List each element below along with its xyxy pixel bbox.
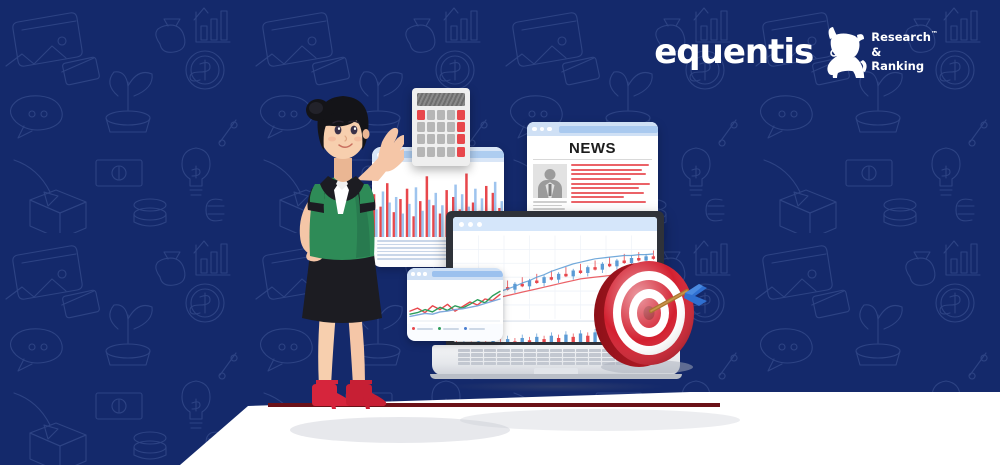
laptop-key[interactable] xyxy=(484,353,496,356)
volume-bar xyxy=(579,333,582,342)
person-avatar-icon xyxy=(533,164,567,198)
bar xyxy=(419,201,422,237)
line-chart-plot xyxy=(407,280,503,324)
calculator-key[interactable] xyxy=(417,110,425,120)
laptop-key[interactable] xyxy=(524,362,536,365)
brand-logo[interactable]: equentis xyxy=(654,26,938,78)
calculator-key[interactable] xyxy=(447,110,455,120)
laptop-key[interactable] xyxy=(537,349,549,352)
bar xyxy=(412,216,415,237)
volume-bar xyxy=(506,339,509,342)
laptop-shadow xyxy=(446,381,666,392)
calculator-key[interactable] xyxy=(447,147,455,157)
laptop-key[interactable] xyxy=(497,353,509,356)
laptop-key[interactable] xyxy=(550,358,562,361)
calculator-display xyxy=(417,93,465,106)
candle-body xyxy=(550,277,553,280)
laptop-key[interactable] xyxy=(458,358,470,361)
calculator-key[interactable] xyxy=(437,110,445,120)
candle-body xyxy=(572,271,575,277)
laptop-key[interactable] xyxy=(550,362,562,365)
laptop-key[interactable] xyxy=(458,353,470,356)
bar xyxy=(406,189,409,237)
calculator-key[interactable] xyxy=(427,110,435,120)
laptop-key[interactable] xyxy=(576,353,588,356)
businesswoman-character xyxy=(282,84,404,418)
promotional-banner: NEWS xyxy=(0,0,1000,465)
laptop-key[interactable] xyxy=(563,358,575,361)
laptop-key[interactable] xyxy=(458,349,470,352)
laptop-key[interactable] xyxy=(471,362,483,365)
volume-bar xyxy=(542,339,545,342)
legend-swatch xyxy=(464,327,467,330)
news-text-column xyxy=(571,164,652,215)
line-window-titlebar xyxy=(407,268,503,280)
bar xyxy=(408,204,411,237)
logo-wordmark: equentis xyxy=(654,35,813,69)
volume-bar xyxy=(528,340,531,342)
window-dot-icon xyxy=(532,127,537,132)
calculator-key[interactable] xyxy=(457,134,465,144)
legend-swatch xyxy=(412,327,415,330)
calculator-key[interactable] xyxy=(457,147,465,157)
legend-label xyxy=(417,328,433,330)
calculator-key[interactable] xyxy=(437,134,445,144)
bar xyxy=(428,200,431,237)
legend-item xyxy=(438,327,459,330)
calculator-key[interactable] xyxy=(427,147,435,157)
bar xyxy=(415,187,418,237)
candle-body xyxy=(586,267,589,273)
laptop-key[interactable] xyxy=(511,349,523,352)
laptop-key[interactable] xyxy=(524,349,536,352)
volume-bar xyxy=(550,336,553,342)
titlebar-fill xyxy=(432,271,503,277)
laptop-key[interactable] xyxy=(497,349,509,352)
line-chart-window[interactable] xyxy=(407,268,503,341)
volume-bar xyxy=(564,335,567,342)
news-window-titlebar xyxy=(527,122,658,136)
candle-body xyxy=(564,274,567,277)
news-avatar-column xyxy=(533,164,567,215)
volume-bar xyxy=(477,341,480,342)
laptop-front-lip xyxy=(430,374,682,379)
laptop-key[interactable] xyxy=(497,358,509,361)
laptop-key[interactable] xyxy=(484,349,496,352)
line-chart-legend xyxy=(407,324,503,333)
volume-bar xyxy=(557,338,560,342)
laptop-key[interactable] xyxy=(563,353,575,356)
titlebar-fill xyxy=(559,126,659,133)
calculator-key[interactable] xyxy=(457,110,465,120)
legend-swatch xyxy=(438,327,441,330)
calculator-key[interactable] xyxy=(417,122,425,132)
legend-item xyxy=(412,327,433,330)
calculator-key[interactable] xyxy=(417,134,425,144)
candle-body xyxy=(521,284,524,287)
laptop-key[interactable] xyxy=(471,349,483,352)
dartboard-target xyxy=(591,257,711,373)
bar xyxy=(426,176,429,237)
bull-icon xyxy=(817,26,867,78)
tagline-line-3: Ranking xyxy=(871,59,924,73)
laptop-key[interactable] xyxy=(576,358,588,361)
calculator-key[interactable] xyxy=(427,134,435,144)
window-dot-icon xyxy=(423,272,427,276)
laptop-key[interactable] xyxy=(524,353,536,356)
legend-item xyxy=(464,327,485,330)
candle-body xyxy=(579,271,582,274)
laptop-key[interactable] xyxy=(511,353,523,356)
laptop-key[interactable] xyxy=(576,362,588,365)
laptop-key[interactable] xyxy=(550,353,562,356)
calculator-key[interactable] xyxy=(437,147,445,157)
calculator[interactable] xyxy=(412,88,470,166)
window-dot-icon xyxy=(411,272,415,276)
volume-bar xyxy=(535,337,538,342)
legend-label xyxy=(443,328,459,330)
calculator-key[interactable] xyxy=(437,122,445,132)
calculator-key[interactable] xyxy=(427,122,435,132)
laptop-key[interactable] xyxy=(537,362,549,365)
laptop-window-titlebar xyxy=(453,217,657,231)
laptop-key[interactable] xyxy=(563,349,575,352)
calculator-keypad[interactable] xyxy=(417,110,465,157)
laptop-key[interactable] xyxy=(576,349,588,352)
candle-body xyxy=(557,274,560,280)
calculator-key[interactable] xyxy=(457,122,465,132)
window-dot-icon xyxy=(547,127,552,132)
legend-label xyxy=(469,328,485,330)
tagline-line-1: Research xyxy=(871,30,931,44)
logo-tagline: Research™ & Ranking xyxy=(871,30,938,73)
laptop-key[interactable] xyxy=(484,358,496,361)
news-headline: NEWS xyxy=(527,136,658,159)
volume-bar xyxy=(572,337,575,342)
laptop-key[interactable] xyxy=(471,353,483,356)
laptop-key[interactable] xyxy=(484,362,496,365)
trademark-symbol: ™ xyxy=(931,31,938,39)
laptop-key[interactable] xyxy=(550,349,562,352)
laptop-key[interactable] xyxy=(563,362,575,365)
calculator-key[interactable] xyxy=(417,147,425,157)
laptop-key[interactable] xyxy=(537,353,549,356)
laptop-key[interactable] xyxy=(524,358,536,361)
laptop-key[interactable] xyxy=(537,358,549,361)
window-dot-icon xyxy=(459,222,464,227)
volume-bar xyxy=(521,338,524,342)
candle-body xyxy=(535,281,538,284)
calculator-key[interactable] xyxy=(447,134,455,144)
laptop-key[interactable] xyxy=(511,362,523,365)
volume-bar xyxy=(586,336,589,342)
candle-body xyxy=(542,277,545,283)
laptop-key[interactable] xyxy=(511,358,523,361)
calculator-key[interactable] xyxy=(447,122,455,132)
window-dot-icon xyxy=(540,127,545,132)
window-dot-icon xyxy=(477,222,482,227)
volume-bar xyxy=(513,341,516,342)
bar xyxy=(421,211,424,237)
laptop-key[interactable] xyxy=(458,362,470,365)
window-dot-icon xyxy=(417,272,421,276)
window-dot-icon xyxy=(468,222,473,227)
laptop-key[interactable] xyxy=(497,362,509,365)
tagline-line-2: & xyxy=(871,45,881,59)
laptop-key[interactable] xyxy=(471,358,483,361)
